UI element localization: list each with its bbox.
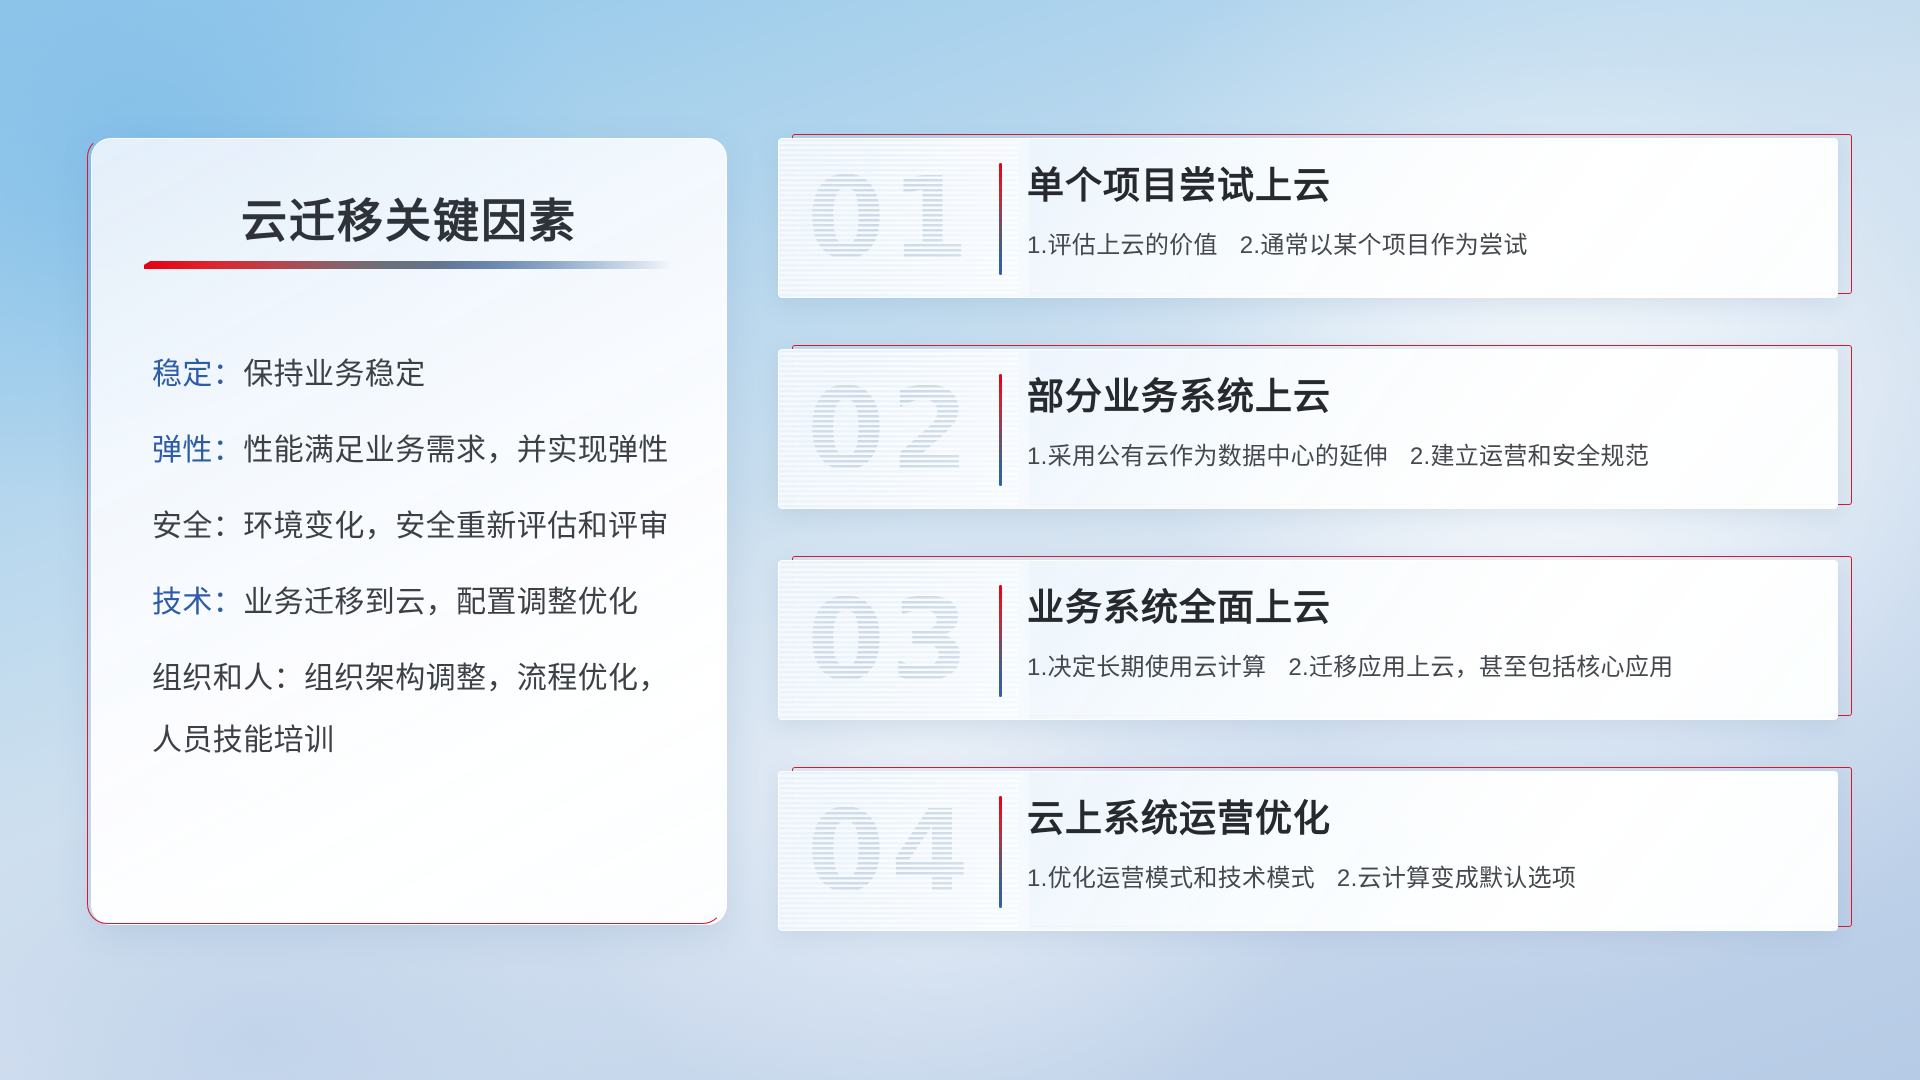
card-subtitle: 1.评估上云的价值2.通常以某个项目作为尝试 [1027, 229, 1528, 263]
card-subtitle: 1.优化运营模式和技术模式2.云计算变成默认选项 [1027, 862, 1576, 896]
card-title: 单个项目尝试上云 [1027, 161, 1331, 211]
card-point-2: 2.云计算变成默认选项 [1337, 865, 1576, 892]
key-factors-list: 稳定：保持业务稳定弹性：性能满足业务需求，并实现弹性安全：环境变化，安全重新评估… [152, 353, 684, 795]
page-title: 云迁移关键因素 [92, 185, 726, 251]
key-factor-item: 组织和人：组织架构调整，流程优化， [152, 657, 684, 701]
key-factor-label: 弹性： [152, 434, 243, 467]
key-factor-item: 技术：业务迁移到云，配置调整优化 [152, 581, 684, 625]
stage-card[interactable]: 04云上系统运营优化1.优化运营模式和技术模式2.云计算变成默认选项 [778, 771, 1838, 931]
card-subtitle: 1.决定长期使用云计算2.迁移应用上云，甚至包括核心应用 [1027, 651, 1673, 685]
card-divider-bar [999, 163, 1002, 275]
card-divider-bar [999, 374, 1002, 486]
key-factor-item: 安全：环境变化，安全重新评估和评审 [152, 505, 684, 549]
card-point-1: 1.评估上云的价值 [1027, 232, 1218, 259]
card-subtitle: 1.采用公有云作为数据中心的延伸2.建立运营和安全规范 [1027, 440, 1649, 474]
slide-stage: 云迁移关键因素 稳定：保持业务稳定弹性：性能满足业务需求，并实现弹性安全：环境变… [0, 0, 1920, 1080]
stage-card-surface[interactable]: 02部分业务系统上云1.采用公有云作为数据中心的延伸2.建立运营和安全规范 [778, 349, 1838, 509]
stage-number: 02 [807, 360, 975, 500]
card-point-2: 2.通常以某个项目作为尝试 [1240, 232, 1528, 259]
card-point-1: 1.优化运营模式和技术模式 [1027, 865, 1315, 892]
key-factor-label: 技术： [152, 586, 243, 619]
key-factor-text: 保持业务稳定 [243, 358, 425, 391]
key-factors-panel: 云迁移关键因素 稳定：保持业务稳定弹性：性能满足业务需求，并实现弹性安全：环境变… [91, 138, 727, 925]
card-title: 云上系统运营优化 [1027, 794, 1331, 844]
migration-stage-cards: 01单个项目尝试上云1.评估上云的价值2.通常以某个项目作为尝试02部分业务系统… [778, 138, 1838, 982]
stage-number: 04 [807, 782, 975, 922]
card-title: 业务系统全面上云 [1027, 583, 1331, 633]
key-factor-text: 业务迁移到云，配置调整优化 [243, 586, 638, 619]
stage-card[interactable]: 03业务系统全面上云1.决定长期使用云计算2.迁移应用上云，甚至包括核心应用 [778, 560, 1838, 720]
card-point-2: 2.建立运营和安全规范 [1410, 443, 1649, 470]
card-divider-bar [999, 796, 1002, 908]
key-factor-text: 组织架构调整，流程优化， [304, 662, 669, 695]
key-factor-label: 稳定： [152, 358, 243, 391]
key-factor-text: 环境变化，安全重新评估和评审 [243, 510, 669, 543]
key-factor-label: 安全： [152, 510, 243, 543]
card-point-1: 1.采用公有云作为数据中心的延伸 [1027, 443, 1388, 470]
card-point-1: 1.决定长期使用云计算 [1027, 654, 1266, 681]
stage-card[interactable]: 01单个项目尝试上云1.评估上云的价值2.通常以某个项目作为尝试 [778, 138, 1838, 298]
key-factor-text: 性能满足业务需求，并实现弹性 [243, 434, 669, 467]
key-factor-text: 人员技能培训 [152, 724, 334, 757]
stage-card-surface[interactable]: 04云上系统运营优化1.优化运营模式和技术模式2.云计算变成默认选项 [778, 771, 1838, 931]
card-point-2: 2.迁移应用上云，甚至包括核心应用 [1288, 654, 1673, 681]
key-factor-item: 人员技能培训 [152, 719, 684, 763]
card-divider-bar [999, 585, 1002, 697]
card-title: 部分业务系统上云 [1027, 372, 1331, 422]
key-factor-item: 稳定：保持业务稳定 [152, 353, 684, 397]
stage-card-surface[interactable]: 01单个项目尝试上云1.评估上云的价值2.通常以某个项目作为尝试 [778, 138, 1838, 298]
key-factor-label: 组织和人： [152, 662, 304, 695]
title-underline-rule [144, 261, 674, 269]
stage-number: 01 [807, 149, 975, 289]
key-factor-item: 弹性：性能满足业务需求，并实现弹性 [152, 429, 684, 473]
stage-card-surface[interactable]: 03业务系统全面上云1.决定长期使用云计算2.迁移应用上云，甚至包括核心应用 [778, 560, 1838, 720]
stage-number: 03 [807, 571, 975, 711]
stage-card[interactable]: 02部分业务系统上云1.采用公有云作为数据中心的延伸2.建立运营和安全规范 [778, 349, 1838, 509]
